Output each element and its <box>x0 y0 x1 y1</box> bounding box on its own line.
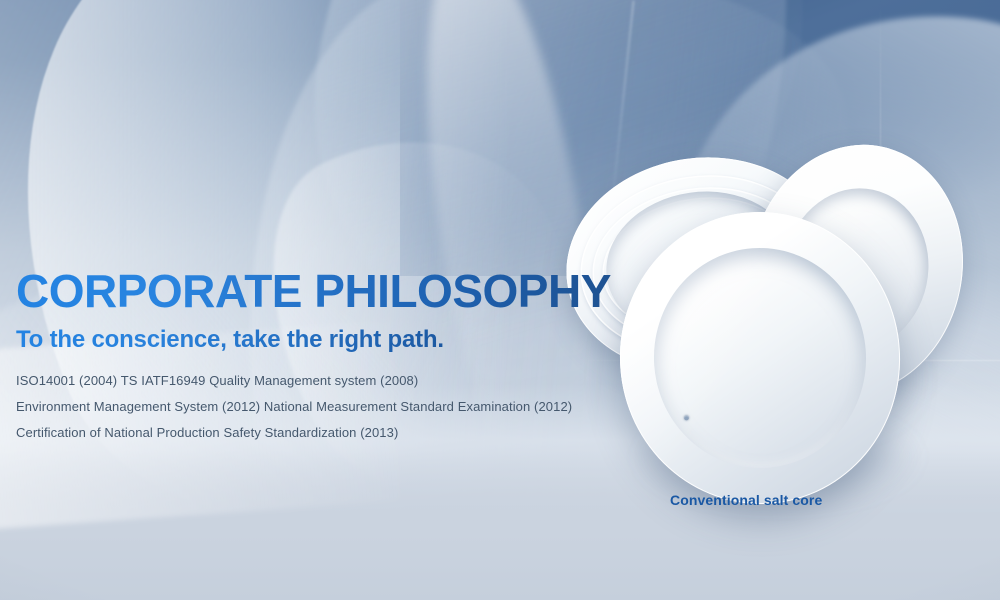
certification-item: Certification of National Production Saf… <box>16 426 616 439</box>
certification-item: Environment Management System (2012) Nat… <box>16 400 616 413</box>
tagline: To the conscience, take the right path. <box>16 328 616 352</box>
certification-item: ISO14001 (2004) TS IATF16949 Quality Man… <box>16 374 616 387</box>
copy-block: CORPORATE PHILOSOPHY To the conscience, … <box>16 268 616 455</box>
product-caption: Conventional salt core <box>670 492 822 508</box>
corporate-philosophy-banner: CORPORATE PHILOSOPHY To the conscience, … <box>0 0 1000 600</box>
certification-list: ISO14001 (2004) TS IATF16949 Quality Man… <box>16 374 616 439</box>
page-title: CORPORATE PHILOSOPHY <box>16 268 616 314</box>
